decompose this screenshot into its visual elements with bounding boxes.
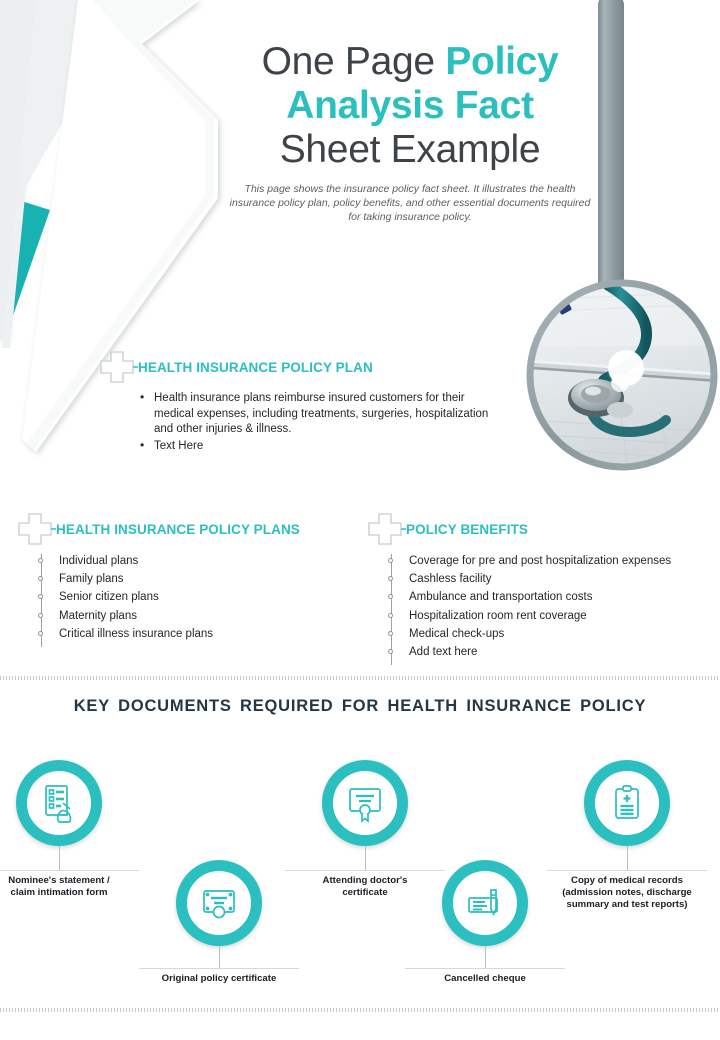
dotted-divider-bottom: [0, 1008, 720, 1012]
page-title-line-1: One Page Policy: [225, 40, 595, 84]
list-item-label: Maternity plans: [59, 610, 137, 622]
icon-ring: [442, 860, 528, 946]
key-document-label: Cancelled cheque: [405, 968, 565, 985]
section-health-insurance-policy-plan: HEALTH INSURANCE POLICY PLAN Health insu…: [100, 350, 500, 455]
bullet-dot-icon: [38, 594, 43, 599]
bullet-dot-icon: [388, 558, 393, 563]
page-title-line-2: Analysis Fact: [225, 84, 595, 128]
key-document-label: Nominee's statement / claim intimation f…: [0, 870, 139, 899]
list-item-label: Senior citizen plans: [59, 591, 159, 603]
page-subtitle: This page shows the insurance policy fac…: [225, 182, 595, 224]
connector-line: [59, 846, 60, 870]
bullet-dot-icon: [388, 576, 393, 581]
page-title-line-3: Sheet Example: [225, 128, 595, 172]
list-item-label: Ambulance and transportation costs: [409, 591, 592, 603]
list-item-label: Individual plans: [59, 555, 138, 567]
connector-line: [627, 846, 628, 870]
bullet-dot-icon: [388, 649, 393, 654]
section-title: HEALTH INSURANCE POLICY PLAN: [138, 360, 373, 375]
list-item-label: Medical check-ups: [409, 628, 504, 640]
bullet-dot-icon: [38, 613, 43, 618]
list-item: Critical illness insurance plans: [59, 625, 363, 643]
bullet-dot-icon: [38, 576, 43, 581]
list-item: Cashless facility: [409, 570, 713, 588]
policy-plans-list: Individual plans Family plans Senior cit…: [41, 552, 363, 643]
cheque-with-pen-icon: [463, 881, 507, 925]
list-item: Coverage for pre and post hospitalizatio…: [409, 552, 713, 570]
section-header: HEALTH INSURANCE POLICY PLAN: [100, 350, 500, 384]
list-item: Medical check-ups: [409, 625, 713, 643]
list-item: Family plans: [59, 570, 363, 588]
page-title-block: One Page Policy Analysis Fact Sheet Exam…: [225, 40, 595, 224]
list-item: Text Here: [140, 439, 500, 455]
title-accent-text: Policy: [445, 40, 558, 83]
bullet-dot-icon: [388, 613, 393, 618]
section-title: POLICY BENEFITS: [406, 522, 528, 537]
connector-line: [365, 846, 366, 870]
list-item: Ambulance and transportation costs: [409, 588, 713, 606]
list-item-label: Family plans: [59, 573, 124, 585]
connector-line: [219, 946, 220, 968]
bullet-dot-icon: [388, 631, 393, 636]
section-title: HEALTH INSURANCE POLICY PLANS: [56, 522, 300, 537]
list-item: Senior citizen plans: [59, 588, 363, 606]
medical-clipboard-icon: [605, 781, 649, 825]
list-item-label: Critical illness insurance plans: [59, 628, 213, 640]
list-item: Individual plans: [59, 552, 363, 570]
key-document-label: Original policy certificate: [139, 968, 299, 985]
policy-plan-bullet-list: Health insurance plans reimburse insured…: [140, 391, 500, 454]
section-header: HEALTH INSURANCE POLICY PLANS: [18, 512, 363, 546]
key-document-label: Copy of medical records (admission notes…: [547, 870, 707, 912]
icon-ring: [322, 760, 408, 846]
medical-cross-icon: [368, 512, 406, 546]
magnifier-handle: [598, 0, 624, 294]
key-documents-heading: KEY DOCUMENTS REQUIRED FOR HEALTH INSURA…: [0, 697, 720, 716]
bullet-dot-icon: [38, 558, 43, 563]
policy-certificate-seal-icon: [197, 881, 241, 925]
section-health-insurance-policy-plans: HEALTH INSURANCE POLICY PLANS Individual…: [18, 512, 363, 643]
bullet-dot-icon: [38, 631, 43, 636]
diploma-certificate-ribbon-icon: [343, 781, 387, 825]
list-item: Health insurance plans reimburse insured…: [140, 391, 500, 438]
list-item: Add text here: [409, 643, 713, 661]
title-plain-text: One Page: [262, 40, 446, 83]
list-item-label: Hospitalization room rent coverage: [409, 610, 587, 622]
dotted-divider-top: [0, 676, 720, 680]
icon-ring: [16, 760, 102, 846]
icon-ring: [584, 760, 670, 846]
medical-cross-icon: [100, 350, 138, 384]
hand-filling-form-icon: [37, 781, 81, 825]
bullet-dot-icon: [388, 594, 393, 599]
policy-benefits-list: Coverage for pre and post hospitalizatio…: [391, 552, 713, 661]
list-item-label: Add text here: [409, 646, 477, 658]
medical-cross-icon: [18, 512, 56, 546]
section-header: POLICY BENEFITS: [368, 512, 713, 546]
section-policy-benefits: POLICY BENEFITS Coverage for pre and pos…: [368, 512, 713, 661]
key-document-label: Attending doctor's certificate: [285, 870, 445, 899]
list-item-label: Cashless facility: [409, 573, 491, 585]
icon-ring: [176, 860, 262, 946]
list-item-label: Coverage for pre and post hospitalizatio…: [409, 555, 671, 567]
list-item: Hospitalization room rent coverage: [409, 607, 713, 625]
connector-line: [485, 946, 486, 968]
list-item: Maternity plans: [59, 607, 363, 625]
